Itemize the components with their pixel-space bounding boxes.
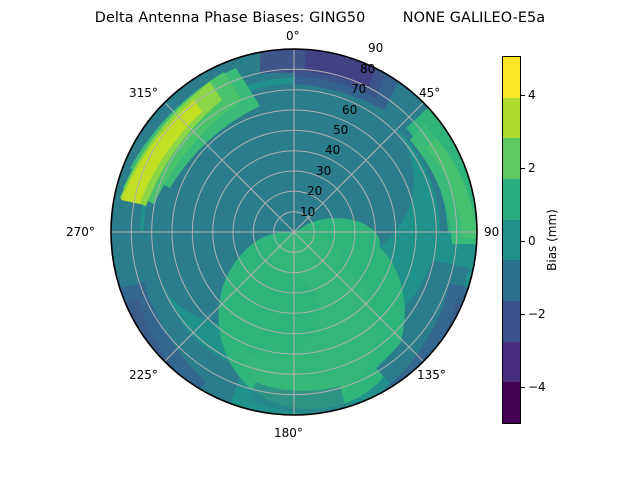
colorbar-band-6 [503,301,520,342]
colorbar[interactable]: 4 2 0 −2 −4 [502,56,521,424]
theta-tick-135: 135° [417,368,446,382]
colorbar-ticklabel-minus4: −4 [528,380,546,394]
colorbar-axis-label: Bias (mm) [545,209,559,271]
page-title: Delta Antenna Phase Biases: GING50 NONE … [0,10,640,26]
r-tick-10: 10 [300,205,315,219]
colorbar-band-0 [503,57,520,98]
theta-tick-0: 0° [286,29,300,43]
colorbar-band-2 [503,138,520,179]
r-tick-80: 80 [360,62,375,76]
colorbar-ticklabel-0: 0 [528,234,536,248]
r-tick-50: 50 [333,123,348,137]
colorbar-gradient [502,56,521,424]
colorbar-band-8 [503,382,520,423]
r-tick-60: 60 [342,103,357,117]
colorbar-tick-2 [521,168,525,169]
theta-tick-270: 270° [66,225,95,239]
theta-tick-315: 315° [129,86,158,100]
r-tick-40: 40 [325,143,340,157]
colorbar-band-1 [503,98,520,139]
r-tick-70: 70 [351,82,366,96]
colorbar-ticklabel-minus2: −2 [528,307,546,321]
colorbar-ticklabel-4: 4 [528,88,536,102]
polar-contour-plot [110,48,478,416]
colorbar-tick-minus4 [521,387,525,388]
theta-tick-45: 45° [419,86,440,100]
colorbar-tick-0 [521,241,525,242]
r-tick-90: 90 [368,41,383,55]
colorbar-band-4 [503,220,520,261]
figure-canvas: Delta Antenna Phase Biases: GING50 NONE … [0,0,640,480]
r-tick-20: 20 [307,184,322,198]
theta-tick-180: 180° [274,426,303,440]
theta-tick-225: 225° [129,368,158,382]
colorbar-ticklabel-2: 2 [528,161,536,175]
polar-axes[interactable]: 0° 45° 90 135° 180° 225° 270° 315° 10 20… [110,48,478,416]
colorbar-band-7 [503,342,520,383]
theta-tick-90: 90 [484,225,499,239]
polar-grid-spokes [111,49,477,415]
colorbar-tick-4 [521,95,525,96]
r-tick-30: 30 [316,164,331,178]
colorbar-band-3 [503,179,520,220]
colorbar-band-5 [503,260,520,301]
colorbar-tick-minus2 [521,314,525,315]
